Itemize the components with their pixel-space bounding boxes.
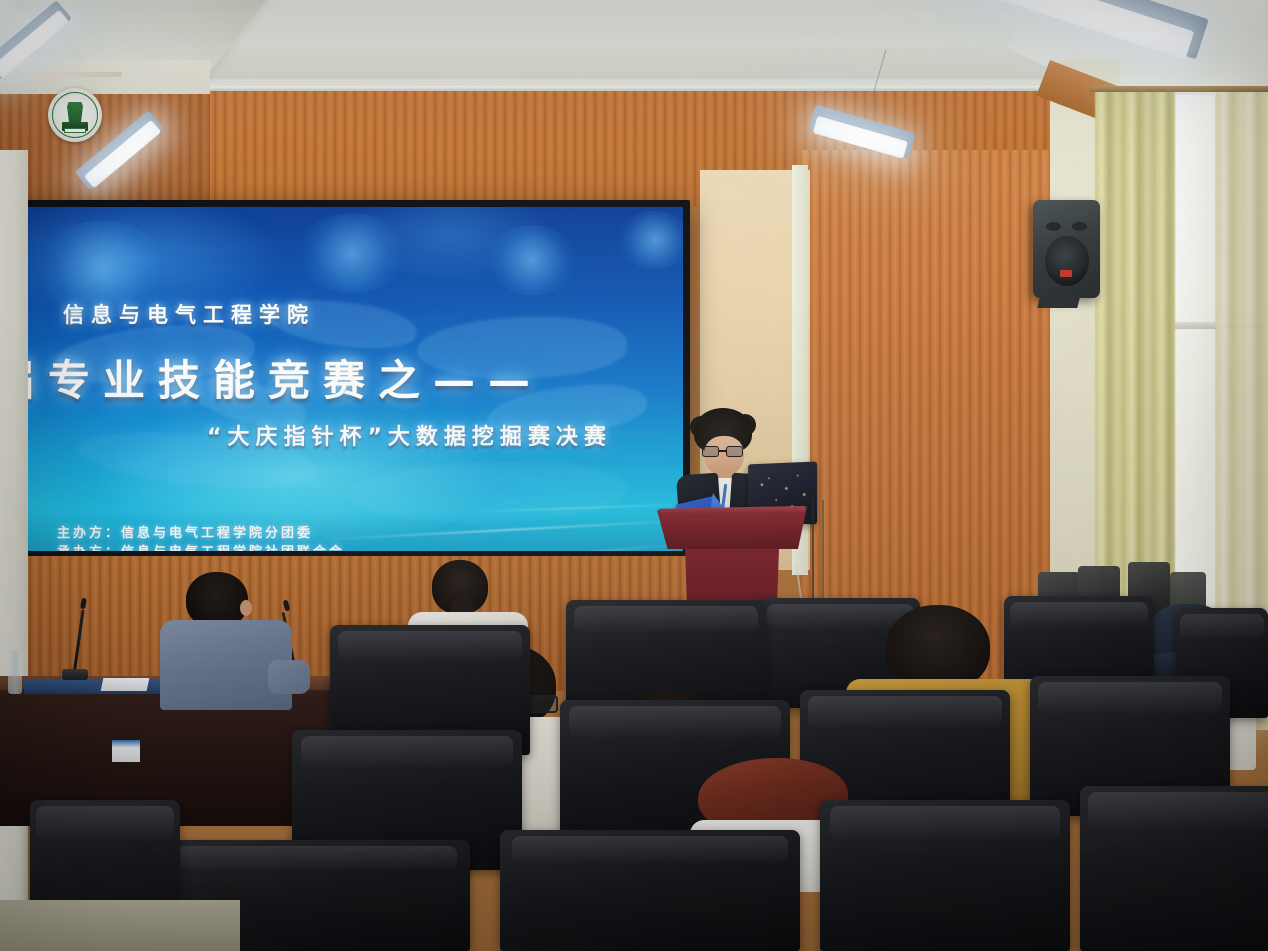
microphone-icon (62, 598, 92, 680)
speaker-brand-badge (1060, 270, 1072, 277)
screen-glow-orb (297, 213, 407, 293)
desk-paper-sheet (101, 678, 150, 691)
screen-light-streak (317, 519, 690, 541)
laptop-decal-dot (797, 475, 799, 477)
crest-pillar (67, 102, 83, 124)
podium-stripe (28, 72, 122, 77)
glasses-lens-left (702, 446, 719, 457)
microphone-gooseneck (73, 609, 85, 671)
microphone-head (80, 598, 87, 610)
speaker-tweeter-right (1072, 222, 1087, 231)
screen-host-line-1: 主办方：信息与电气工程学院分团委 (57, 522, 313, 541)
speaker-woofer (1045, 236, 1089, 286)
screen-glow-orb (487, 225, 577, 295)
screen-subtitle: “大庆指针杯”大数据挖掘赛决赛 (207, 419, 612, 451)
university-crest-icon (48, 88, 102, 142)
laptop-decal-dot (775, 499, 777, 501)
screen-organization-text: 信息与电气工程学院 (63, 299, 315, 329)
judge-arm (268, 660, 310, 694)
audience-chair (500, 830, 800, 951)
laptop-decal-dot (768, 477, 770, 479)
led-screen-content: 信息与电气工程学院 届专业技能竞赛之—— “大庆指针杯”大数据挖掘赛决赛 主办方… (17, 207, 683, 551)
loudspeaker-icon (1033, 200, 1100, 298)
judge-ear (240, 600, 252, 616)
screen-glow-orb (617, 211, 690, 269)
speaker-tweeter-left (1046, 222, 1061, 231)
wall-pillar-left (0, 150, 28, 951)
laptop-decal-dot (785, 487, 788, 490)
glasses-bridge (719, 450, 726, 452)
judge-person (150, 572, 300, 702)
laptop-decal-dot (761, 483, 764, 486)
microphone-base (62, 669, 88, 680)
lecture-hall-photo: 信息与电气工程学院 届专业技能竞赛之—— “大庆指针杯”大数据挖掘赛决赛 主办方… (0, 0, 1268, 951)
floor (0, 900, 240, 951)
audience-chair (820, 800, 1070, 951)
glasses-icon (702, 446, 746, 457)
audience-chair (1080, 786, 1268, 951)
glasses-lens-right (726, 446, 743, 457)
speaker-grille (1047, 211, 1087, 216)
desk-booklet (112, 740, 140, 762)
world-map-shape (346, 455, 629, 530)
screen-main-title: 届专业技能竞赛之—— (10, 347, 543, 408)
speaker-mount-bracket (1037, 294, 1080, 308)
crest-book-pages (64, 128, 86, 133)
desk-water-cup (8, 650, 22, 694)
laptop-decal-dot (803, 493, 806, 496)
led-banner-screen: 信息与电气工程学院 届专业技能竞赛之—— “大庆指针杯”大数据挖掘赛决赛 主办方… (10, 200, 690, 558)
